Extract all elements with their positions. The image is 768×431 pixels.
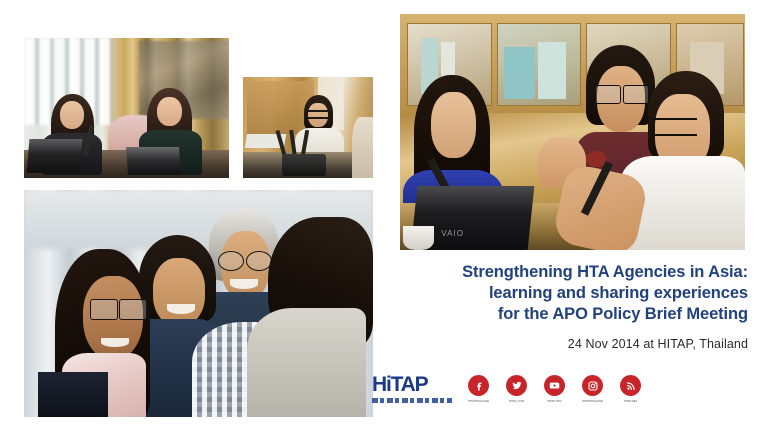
laptop-brand-label: VAIO <box>441 229 496 243</box>
social-links-row: HITAPTHAILAND HITAP_THAI HITAP THAI <box>466 372 643 403</box>
book <box>504 47 535 99</box>
person-smile <box>167 304 195 314</box>
social-label-twitter: HITAP_THAI <box>505 399 528 403</box>
person-smile <box>101 338 129 347</box>
poster-subtitle: 24 Nov 2014 at HITAP, Thailand <box>298 337 748 351</box>
poster-title: Strengthening HTA Agencies in Asia: lear… <box>298 262 748 325</box>
person-partial <box>352 117 373 178</box>
eyeglasses <box>119 299 147 320</box>
av-equipment <box>282 154 326 176</box>
poster-canvas: VAIO Strengthening HTA Agencies in Asia:… <box>0 0 768 431</box>
coffee-cup <box>403 226 434 250</box>
title-block: Strengthening HTA Agencies in Asia: lear… <box>298 262 748 351</box>
social-label-rss: HITAP.NET <box>619 399 642 403</box>
hitap-tagline <box>372 398 452 403</box>
photo-meeting-two-women <box>24 38 229 178</box>
hitap-wordmark: HiTAP <box>372 374 452 396</box>
book <box>538 42 566 99</box>
person-face <box>153 258 205 326</box>
eyeglasses <box>595 85 621 105</box>
social-label-youtube: HITAP THAI <box>543 399 566 403</box>
social-link-instagram[interactable]: HITAPTHAILAND <box>580 375 605 403</box>
eyeglasses <box>652 118 697 136</box>
photo-scene <box>243 77 373 178</box>
title-line-1: Strengthening HTA Agencies in Asia: <box>298 262 748 283</box>
photo-panel-discussion: VAIO <box>400 14 745 250</box>
photo-speaker-microphones <box>243 77 373 178</box>
social-link-youtube[interactable]: HITAP THAI <box>542 375 567 403</box>
footer-bar: HiTAP HITAPTHAILAND HITAP_THAI <box>372 372 642 414</box>
title-line-3: for the APO Policy Brief Meeting <box>298 304 748 325</box>
youtube-icon <box>544 375 565 396</box>
hitap-logo[interactable]: HiTAP <box>372 372 452 403</box>
rss-icon <box>620 375 641 396</box>
person-smile <box>230 279 258 289</box>
photo-scene: VAIO <box>400 14 745 250</box>
eyeglasses <box>308 110 328 119</box>
person-face <box>431 92 476 158</box>
social-label-instagram: HITAPTHAILAND <box>581 399 604 403</box>
social-link-rss[interactable]: HITAP.NET <box>618 375 643 403</box>
social-link-twitter[interactable]: HITAP_THAI <box>504 375 529 403</box>
person-face <box>157 97 182 126</box>
photo-scene <box>24 38 229 178</box>
title-line-2: learning and sharing experiences <box>298 283 748 304</box>
eyeglasses <box>623 85 649 105</box>
person-face <box>60 101 85 129</box>
laptop <box>126 147 181 175</box>
person-torso <box>38 372 108 417</box>
twitter-icon <box>506 375 527 396</box>
laptop <box>27 139 83 173</box>
instagram-icon <box>582 375 603 396</box>
eyeglasses <box>90 299 118 320</box>
facebook-icon <box>468 375 489 396</box>
social-label-facebook: HITAPTHAILAND <box>467 399 490 403</box>
hitap-wordmark-text: HiTAP <box>372 373 427 396</box>
social-link-facebook[interactable]: HITAPTHAILAND <box>466 375 491 403</box>
